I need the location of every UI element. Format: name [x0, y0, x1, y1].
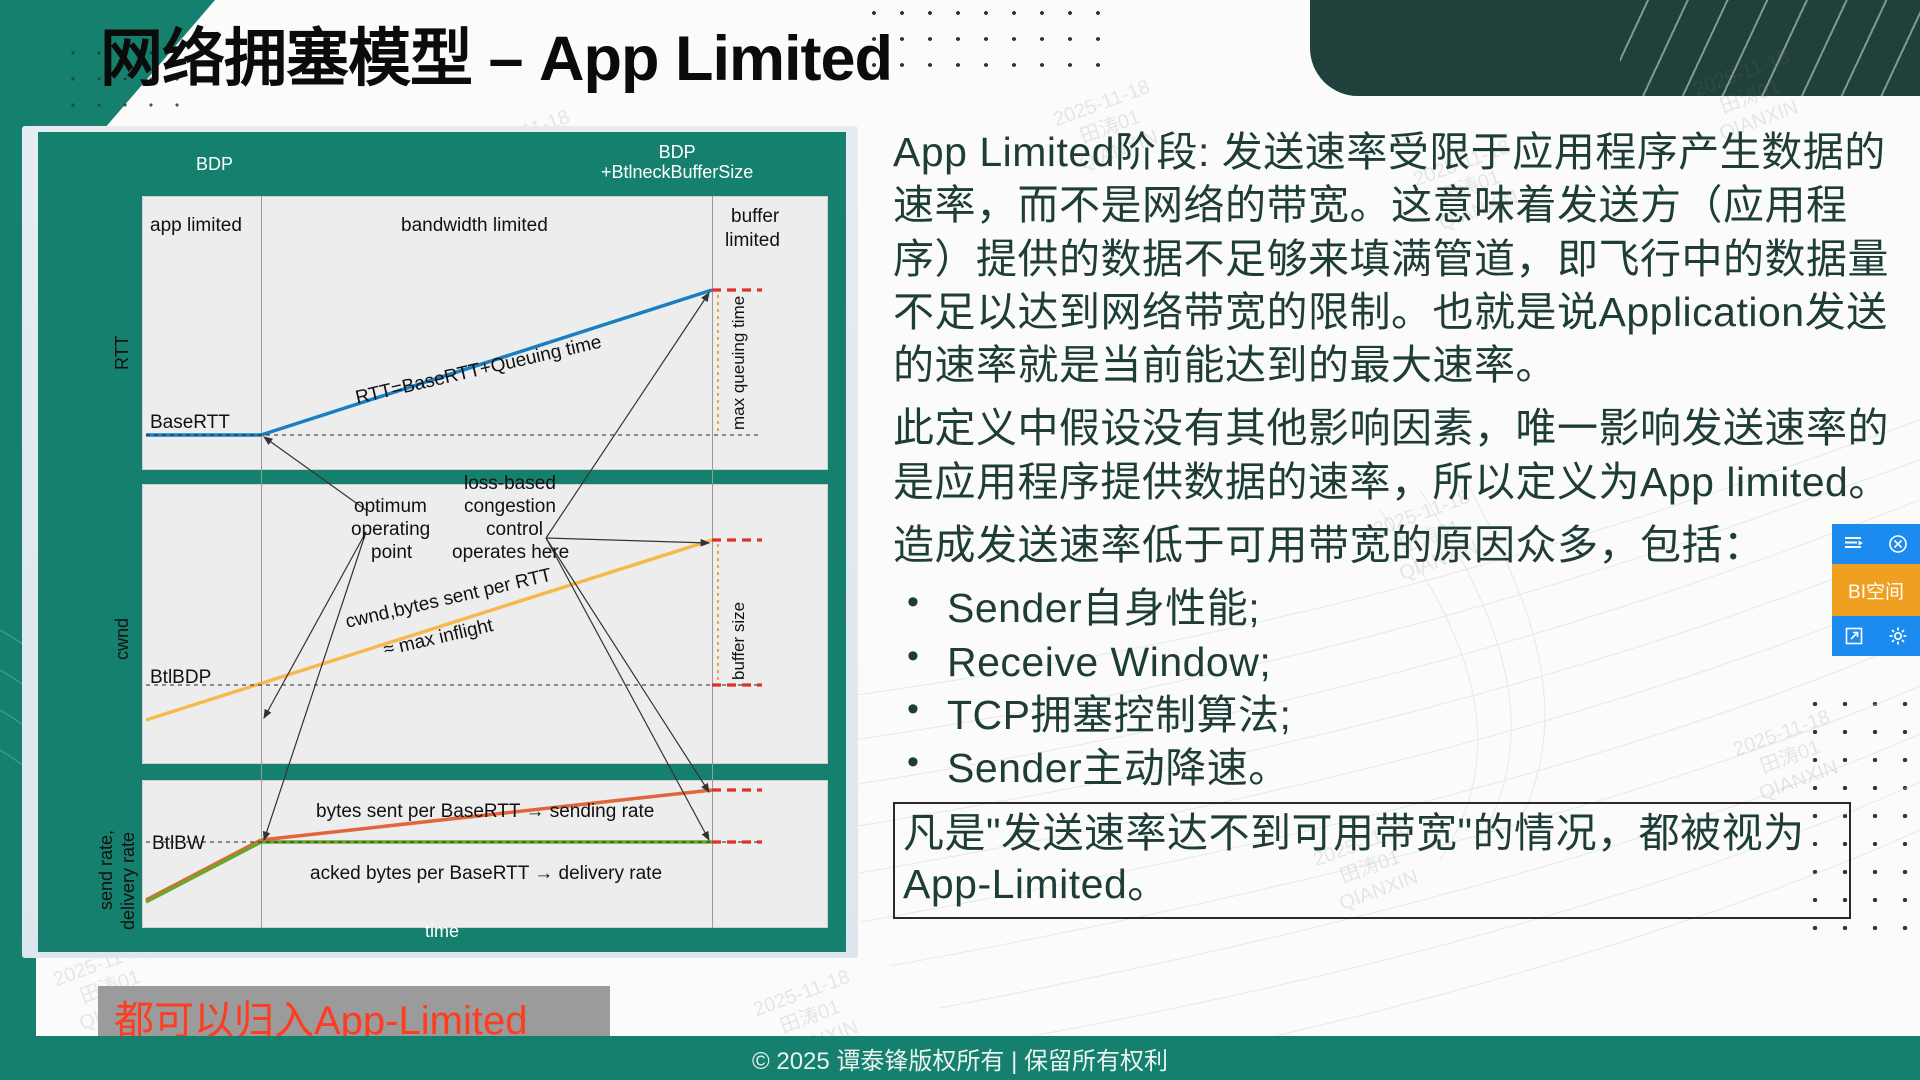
paragraph-1: App Limited阶段: 发送速率受限于应用程序产生数据的速率，而不是网络的…: [893, 126, 1893, 392]
floating-widget[interactable]: BI空间: [1832, 524, 1920, 656]
label-loss-based: loss-based: [464, 473, 556, 495]
page-title: 网络拥塞模型 – App Limited: [100, 8, 892, 99]
label-point: point: [371, 542, 412, 564]
label-buffer-limited-2: limited: [725, 230, 780, 252]
boxed-note: 凡是"发送速率达不到可用带宽"的情况，都被视为App-Limited。: [893, 802, 1851, 919]
close-icon[interactable]: [1888, 534, 1908, 554]
widget-toolbar-bottom[interactable]: [1832, 616, 1920, 656]
label-sending-rate: bytes sent per BaseRTT → sending rate: [316, 801, 654, 823]
causes-bullet-list: Sender自身性能; Receive Window; TCP拥塞控制算法; S…: [893, 582, 1893, 795]
diagram-lines: [46, 140, 838, 944]
diagonal-stripes: [1620, 0, 1920, 96]
widget-toolbar-top[interactable]: [1832, 524, 1920, 564]
label-buffer-limited-1: buffer: [731, 206, 779, 228]
list-item: Sender主动降速。: [893, 742, 1893, 795]
bbr-congestion-diagram: BDP BDP +BtlneckBufferSize RTT cwnd send…: [38, 132, 846, 952]
label-control: control: [486, 519, 543, 541]
footer-copyright: © 2025 谭泰锋版权所有 | 保留所有权利: [752, 1041, 1168, 1076]
label-basertt: BaseRTT: [150, 412, 230, 434]
dot-grid-top: [860, 0, 1120, 80]
label-operating: operating: [351, 519, 430, 541]
label-btlbw: BtlBW: [152, 833, 205, 855]
label-delivery-rate: acked bytes per BaseRTT → delivery rate: [310, 863, 662, 885]
expand-icon[interactable]: [1844, 626, 1864, 646]
widget-bi-space-label: BI空间: [1848, 577, 1904, 604]
slide-root: 2025-11-18 田涛01 QIANXIN 2025-11-18 田涛01 …: [0, 0, 1920, 1080]
page-title-container: 网络拥塞模型 – App Limited: [100, 8, 892, 98]
gear-icon[interactable]: [1888, 626, 1908, 646]
label-bandwidth-limited: bandwidth limited: [401, 215, 548, 237]
label-congestion: congestion: [464, 496, 556, 518]
label-btlbdp: BtlBDP: [150, 667, 211, 689]
list-item: Receive Window;: [893, 636, 1893, 689]
list-item: TCP拥塞控制算法;: [893, 689, 1893, 742]
body-text-column: App Limited阶段: 发送速率受限于应用程序产生数据的速率，而不是网络的…: [893, 126, 1893, 919]
label-app-limited: app limited: [150, 215, 242, 237]
paragraph-2: 此定义中假设没有其他影响因素，唯一影响发送速率的是应用程序提供数据的速率，所以定…: [893, 402, 1893, 509]
label-operates-here: operates here: [452, 542, 569, 564]
axis-label-time: time: [46, 921, 838, 942]
widget-bi-space-button[interactable]: BI空间: [1832, 564, 1920, 616]
paragraph-3: 造成发送速率低于可用带宽的原因众多，包括：: [893, 519, 1893, 572]
header-dark-block: [1310, 0, 1920, 96]
footer-bar: © 2025 谭泰锋版权所有 | 保留所有权利: [0, 1036, 1920, 1080]
list-icon[interactable]: [1844, 536, 1864, 552]
label-optimum: optimum: [354, 496, 427, 518]
list-item: Sender自身性能;: [893, 582, 1893, 635]
